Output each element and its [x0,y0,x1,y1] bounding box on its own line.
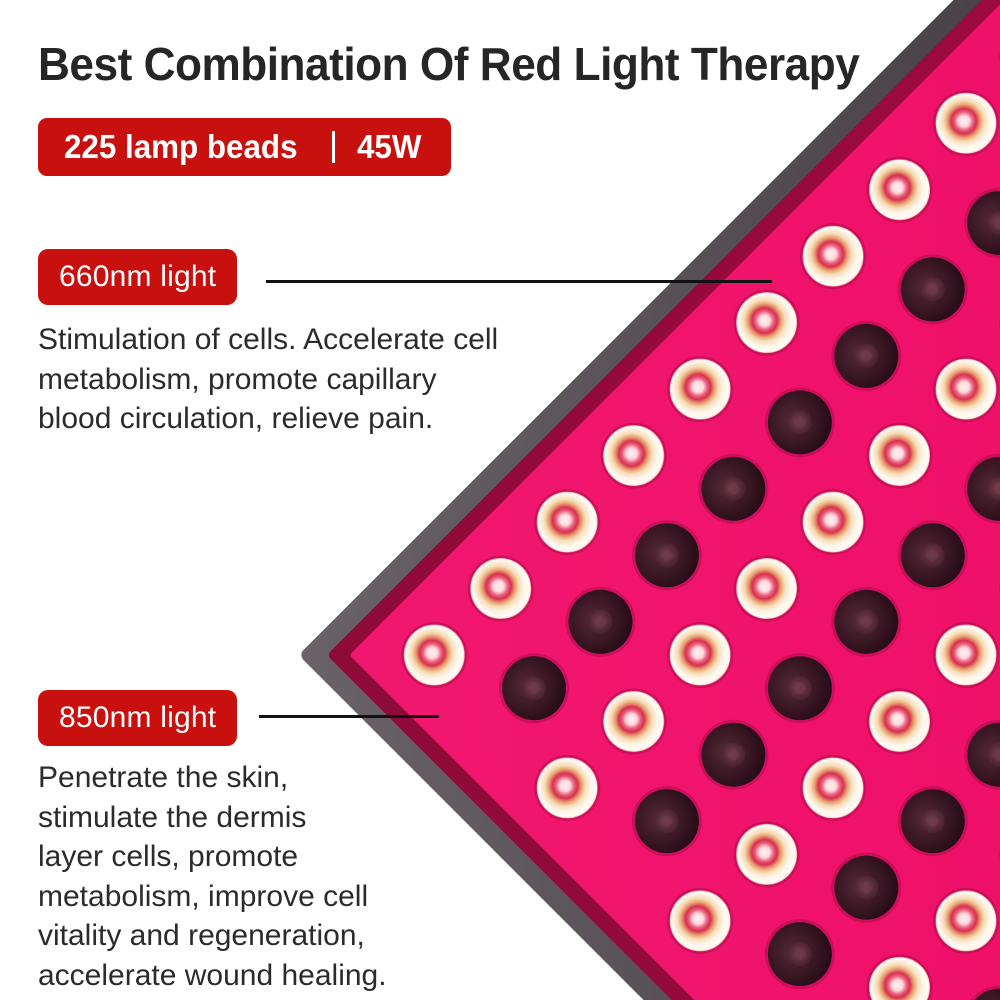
page-title: Best Combination Of Red Light Therapy [38,40,864,88]
callout-tag-660nm: 660nm light [38,249,237,305]
spec-separator [332,131,335,163]
callout-tag-850nm: 850nm light [38,690,237,746]
product-infographic: {"rows":16,"cols":14,"x0":90,"y0":90,"dx… [0,0,1000,1000]
text-overlay: Best Combination Of Red Light Therapy 22… [0,0,1000,1000]
callout-tag-850nm-label: 850nm light [59,701,216,735]
spec-bead-count: 225 lamp beads [64,128,298,166]
leader-line-850nm [259,715,439,718]
spec-power: 45W [357,128,421,166]
spec-badge: 225 lamp beads 45W [38,118,451,176]
callout-tag-660nm-label: 660nm light [59,260,216,294]
leader-line-660nm [266,280,772,283]
callout-body-850nm: Penetrate the skin, stimulate the dermis… [38,758,448,996]
callout-body-660nm: Stimulation of cells. Accelerate cell me… [38,320,598,439]
